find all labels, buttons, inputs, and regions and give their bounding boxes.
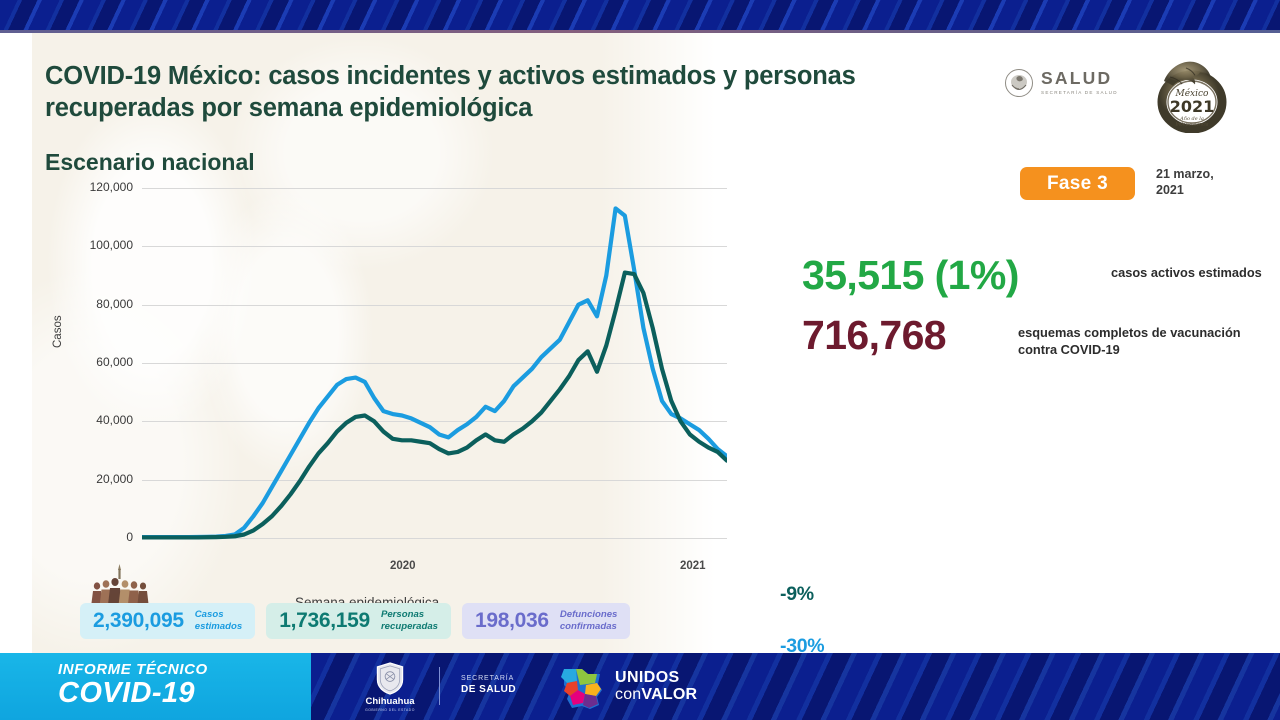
summary-label-line1: Personas <box>381 609 424 620</box>
unidos-line2: conVALOR <box>615 687 697 704</box>
slide-body: COVID-19 México: casos incidentes y acti… <box>0 33 1280 653</box>
chihuahua-state-name: Chihuahua <box>365 696 414 707</box>
y-tick-20000: 20,000 <box>59 472 133 486</box>
summary-label-line1: Casos <box>195 609 224 620</box>
report-date: 21 marzo, 2021 <box>1156 166 1240 198</box>
top-decorative-banner <box>0 0 1280 30</box>
year-label-2020: 2020 <box>390 560 416 572</box>
summary-boxes: 2,390,095 Casos estimados 1,736,159 Pers… <box>80 603 630 639</box>
y-tick-0: 0 <box>59 530 133 544</box>
vaccination-label: esquemas completos de vacunación contra … <box>1018 325 1280 358</box>
summary-label-line2: confirmadas <box>560 621 617 632</box>
chihuahua-shield-icon <box>375 662 405 695</box>
series-line <box>142 208 727 537</box>
y-axis-tick-labels: 020,00040,00060,00080,000100,000120,000 <box>45 188 133 538</box>
footer-banner: INFORME TÉCNICO COVID-19 Chihuahua GOBIE… <box>0 653 1280 720</box>
y-tick-120000: 120,000 <box>59 180 133 194</box>
salud-logo-subtext: SECRETARÍA DE SALUD <box>1041 91 1118 96</box>
summary-label-line2: recuperadas <box>381 621 438 632</box>
summary-value: 1,736,159 <box>279 609 370 633</box>
summary-label: Casos estimados <box>195 609 242 633</box>
salud-logo-text: SALUD <box>1041 70 1118 88</box>
chart-plot-area <box>142 188 727 538</box>
summary-box-estimated-cases: 2,390,095 Casos estimados <box>80 603 255 639</box>
footer-informe-text: INFORME TÉCNICO <box>58 662 208 677</box>
footer-covid-text: COVID-19 <box>58 679 208 708</box>
chihuahua-logo: Chihuahua GOBIERNO DEL ESTADO <box>361 662 419 712</box>
unidos-con-valor-logo: UNIDOS conVALOR <box>556 665 697 709</box>
footer-divider <box>439 667 440 705</box>
svg-text:Año de la: Año de la <box>1179 115 1204 122</box>
phase-badge: Fase 3 <box>1020 167 1135 200</box>
summary-box-deaths: 198,036 Defunciones confirmadas <box>462 603 630 639</box>
summary-box-recovered: 1,736,159 Personas recuperadas <box>266 603 451 639</box>
unidos-con: con <box>615 686 641 703</box>
summary-label: Defunciones confirmadas <box>560 609 618 633</box>
y-tick-80000: 80,000 <box>59 297 133 311</box>
chihuahua-state-sub: GOBIERNO DEL ESTADO <box>365 708 415 712</box>
y-tick-40000: 40,000 <box>59 413 133 427</box>
chart-series-svg <box>142 188 727 542</box>
chihuahua-map-icon <box>556 665 608 709</box>
secretaria-line2: DE SALUD <box>461 684 516 697</box>
annotation-recovered-change: -9% <box>780 583 814 606</box>
unidos-valor: VALOR <box>641 686 697 703</box>
active-cases-label: casos activos estimados <box>1111 265 1262 282</box>
summary-value: 2,390,095 <box>93 609 184 633</box>
summary-label: Personas recuperadas <box>381 609 438 633</box>
secretaria-line1: SECRETARÍA <box>461 675 516 684</box>
mexico-2021-emblem-icon: México 2021 Año de la Independencia <box>1150 55 1234 133</box>
footer-left-panel: INFORME TÉCNICO COVID-19 <box>0 653 311 720</box>
summary-value: 198,036 <box>475 609 549 633</box>
page-subtitle: Escenario nacional <box>45 149 255 176</box>
page-title: COVID-19 México: casos incidentes y acti… <box>45 60 945 124</box>
secretaria-de-salud-label: SECRETARÍA DE SALUD <box>461 675 516 696</box>
year-label-2021: 2021 <box>680 560 706 572</box>
y-tick-100000: 100,000 <box>59 238 133 252</box>
epidemic-curve-chart: Casos 020,00040,00060,00080,000100,00012… <box>45 188 745 618</box>
active-cases-value: 35,515 (1%) <box>802 255 1019 296</box>
summary-label-line2: estimados <box>195 621 242 632</box>
salud-logo: SALUD SECRETARÍA DE SALUD <box>1004 61 1138 105</box>
svg-text:2021: 2021 <box>1170 97 1215 116</box>
mexico-seal-icon <box>1004 68 1034 98</box>
footer-right-panel: Chihuahua GOBIERNO DEL ESTADO SECRETARÍA… <box>311 653 1280 720</box>
svg-text:Independencia: Independencia <box>1175 123 1209 128</box>
y-tick-60000: 60,000 <box>59 355 133 369</box>
summary-label-line1: Defunciones <box>560 609 618 620</box>
annotation-cases-change: -30% <box>780 635 824 653</box>
x-axis-week-band: 1234567891011121314151617181920212223242… <box>142 538 727 552</box>
unidos-line1: UNIDOS <box>615 670 697 687</box>
vaccination-value: 716,768 <box>802 315 946 356</box>
